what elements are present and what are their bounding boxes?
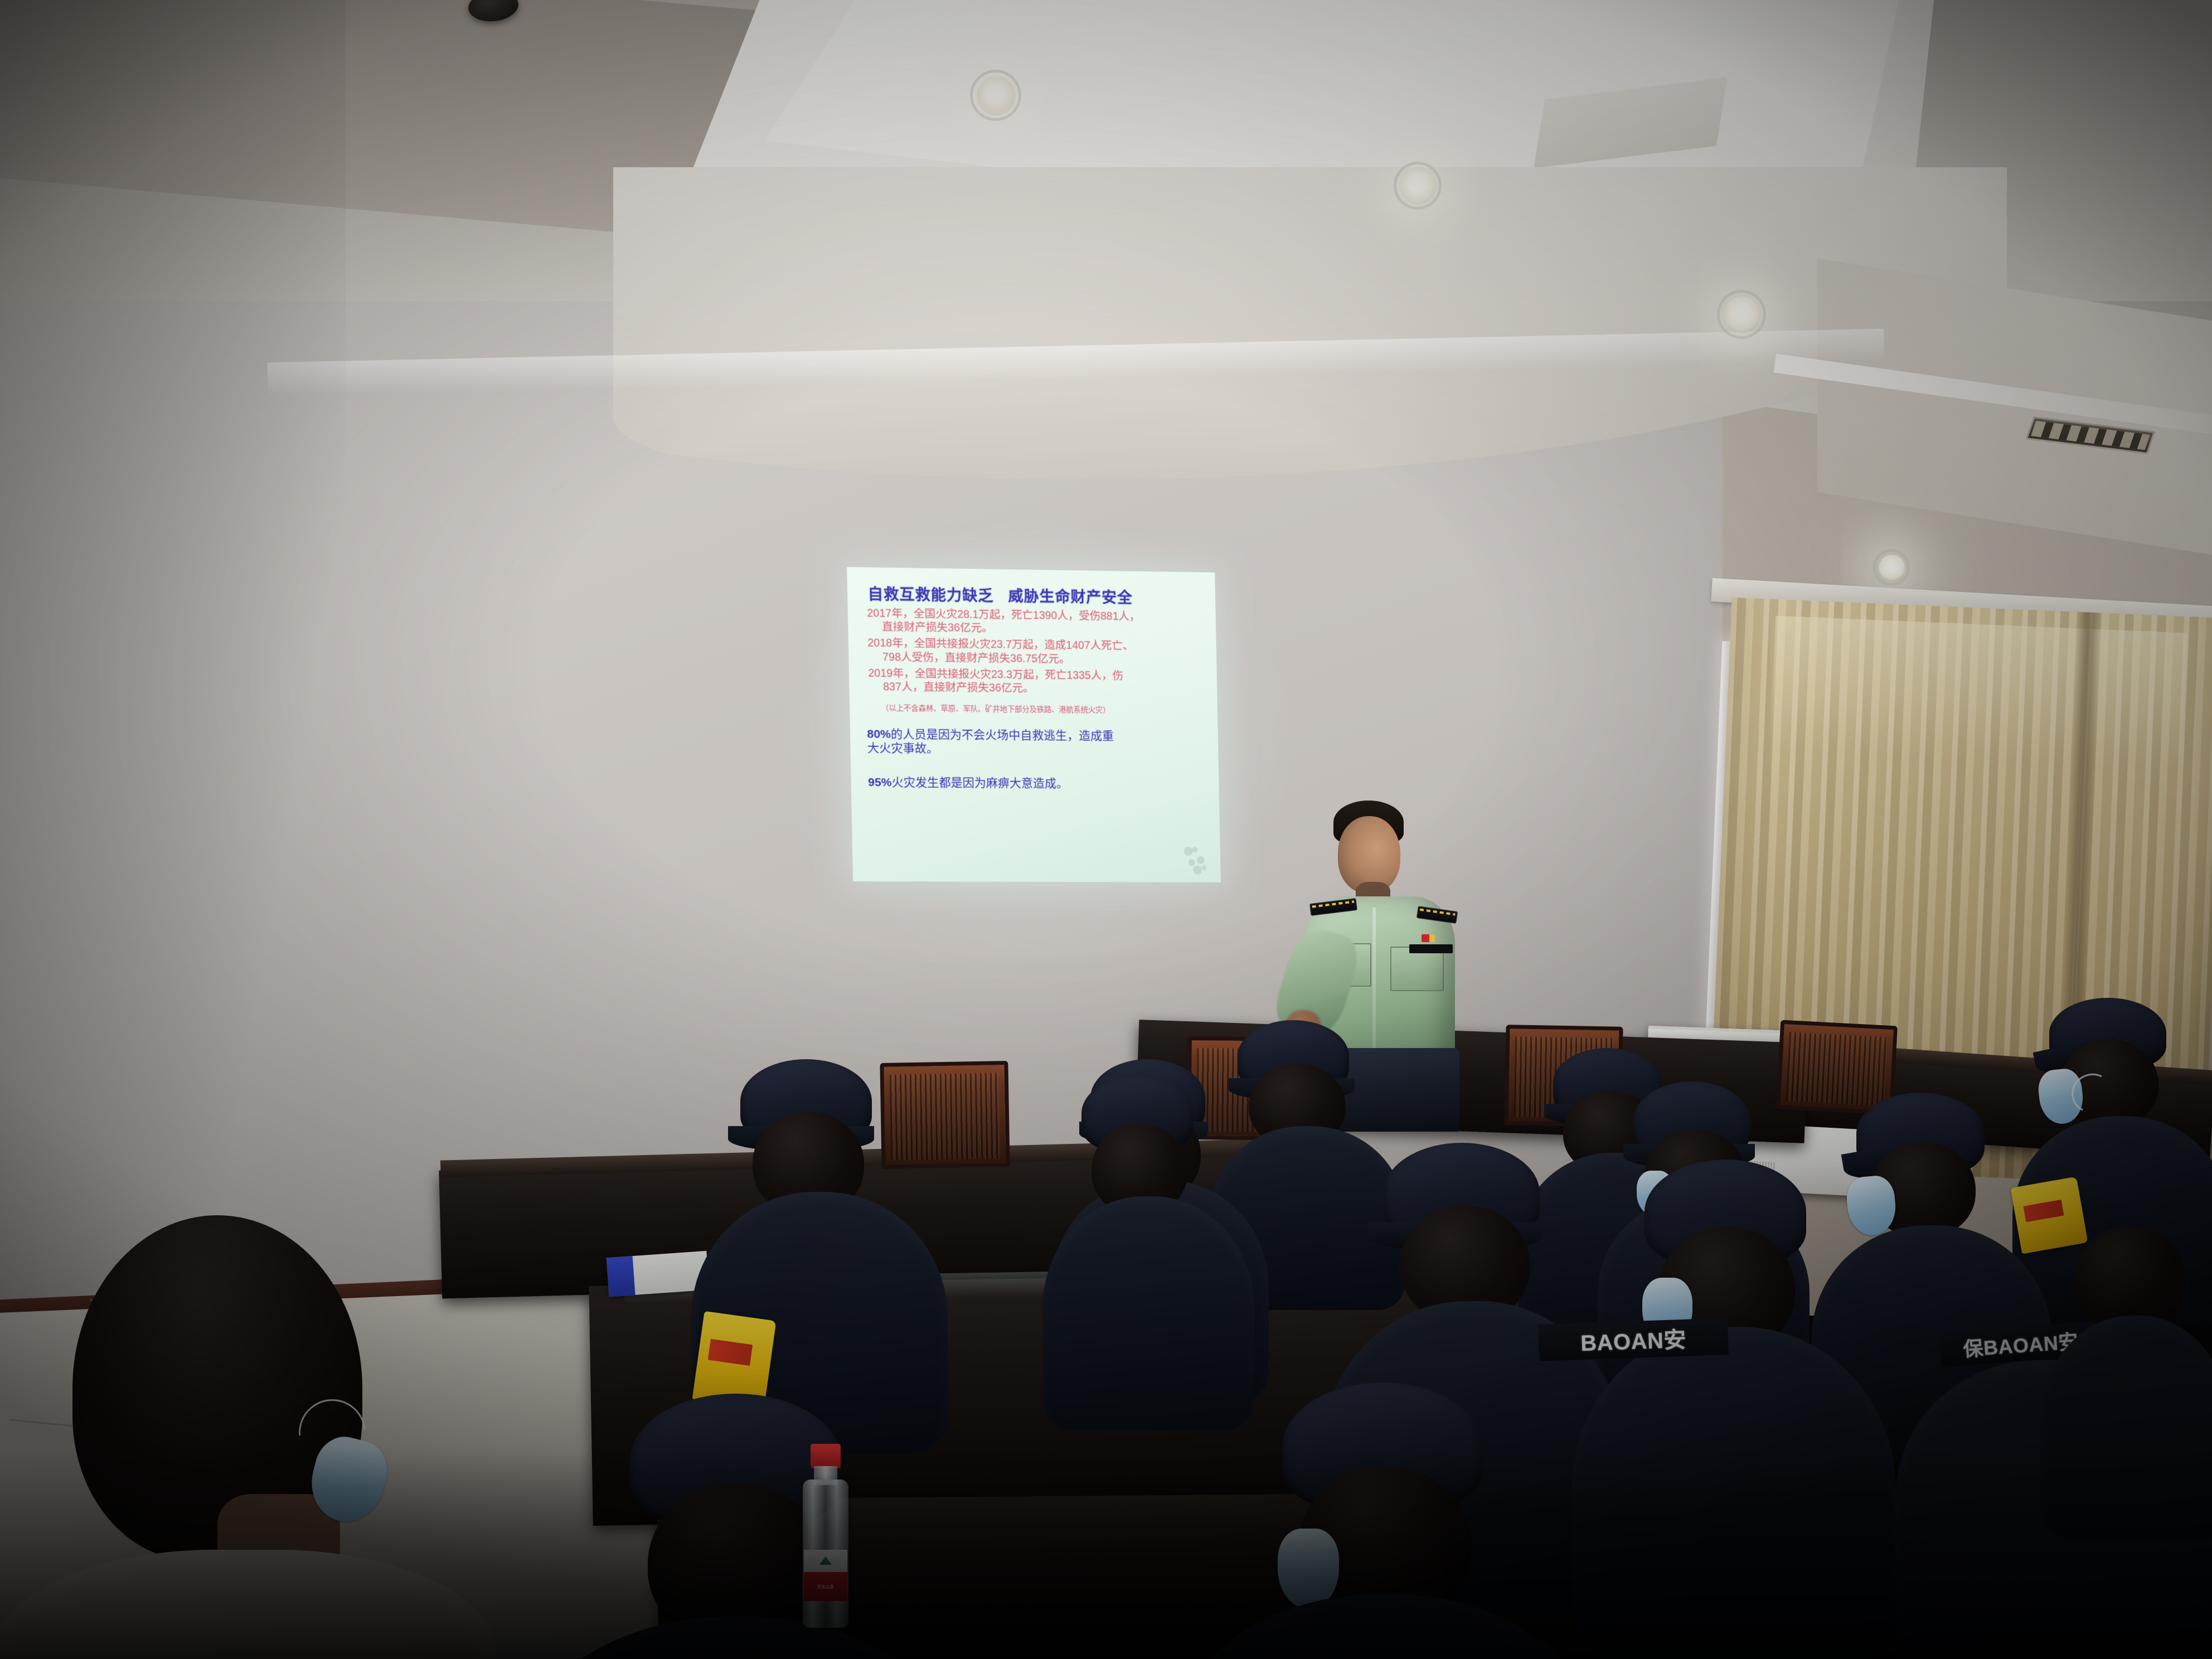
presenter-name-tag	[1409, 944, 1453, 953]
ceiling-downlight-3	[1724, 297, 1760, 333]
wall-shadow	[0, 0, 346, 1338]
shirt-pocket-right	[1390, 947, 1444, 991]
slide-highlight-80: 80%的人员是因为不会火场中自救逃生，造成重 大火灾事故。	[865, 727, 1206, 758]
slide-highlight-95: 95%火灾发生都是因为麻痹大意造成。	[866, 775, 1207, 792]
ceiling-downlight-4	[1879, 555, 1905, 581]
slide-title-right: 威胁生命财产安全	[1008, 588, 1133, 606]
audience-member	[714, 1059, 925, 1371]
slide-title: 自救互救能力缺乏威胁生命财产安全	[867, 582, 1203, 608]
slide-watermark-icon	[1178, 843, 1212, 878]
slide-title-left: 自救互救能力缺乏	[867, 586, 993, 604]
slide-stat-2017: 2017年，全国火灾28.1万起，死亡1390人，受伤881人， 直接财产损失3…	[862, 607, 1204, 638]
slide-stat-2019: 2019年，全国共接报火灾23.3万起，死亡1335人，伤 837人，直接财产损…	[864, 666, 1205, 697]
notebook-spine	[607, 1256, 636, 1297]
ceiling-downlight-2	[1400, 168, 1436, 204]
audience-member	[2018, 998, 2212, 1265]
slide-footnote: （以上不含森林、草原、军队、矿井地下部分及铁路、港航系统火灾）	[864, 701, 1205, 716]
ceiling-downlight-1	[977, 76, 1016, 115]
foreground-shadow	[0, 1449, 2212, 1659]
conference-room-photo: 自救互救能力缺乏威胁生命财产安全 2017年，全国火灾28.1万起，死亡1390…	[0, 0, 2212, 1659]
flag-pin-icon	[1422, 934, 1435, 942]
uniform-badge-partial: BAOAN安	[1538, 1318, 1729, 1361]
audience-member	[1048, 1070, 1249, 1360]
projected-slide: 自救互救能力缺乏威胁生命财产安全 2017年，全国火灾28.1万起，死亡1390…	[847, 567, 1221, 882]
slide-stat-2018: 2018年，全国共接报火灾23.7万起，造成1407人死亡、 798人受伤，直接…	[863, 637, 1205, 667]
